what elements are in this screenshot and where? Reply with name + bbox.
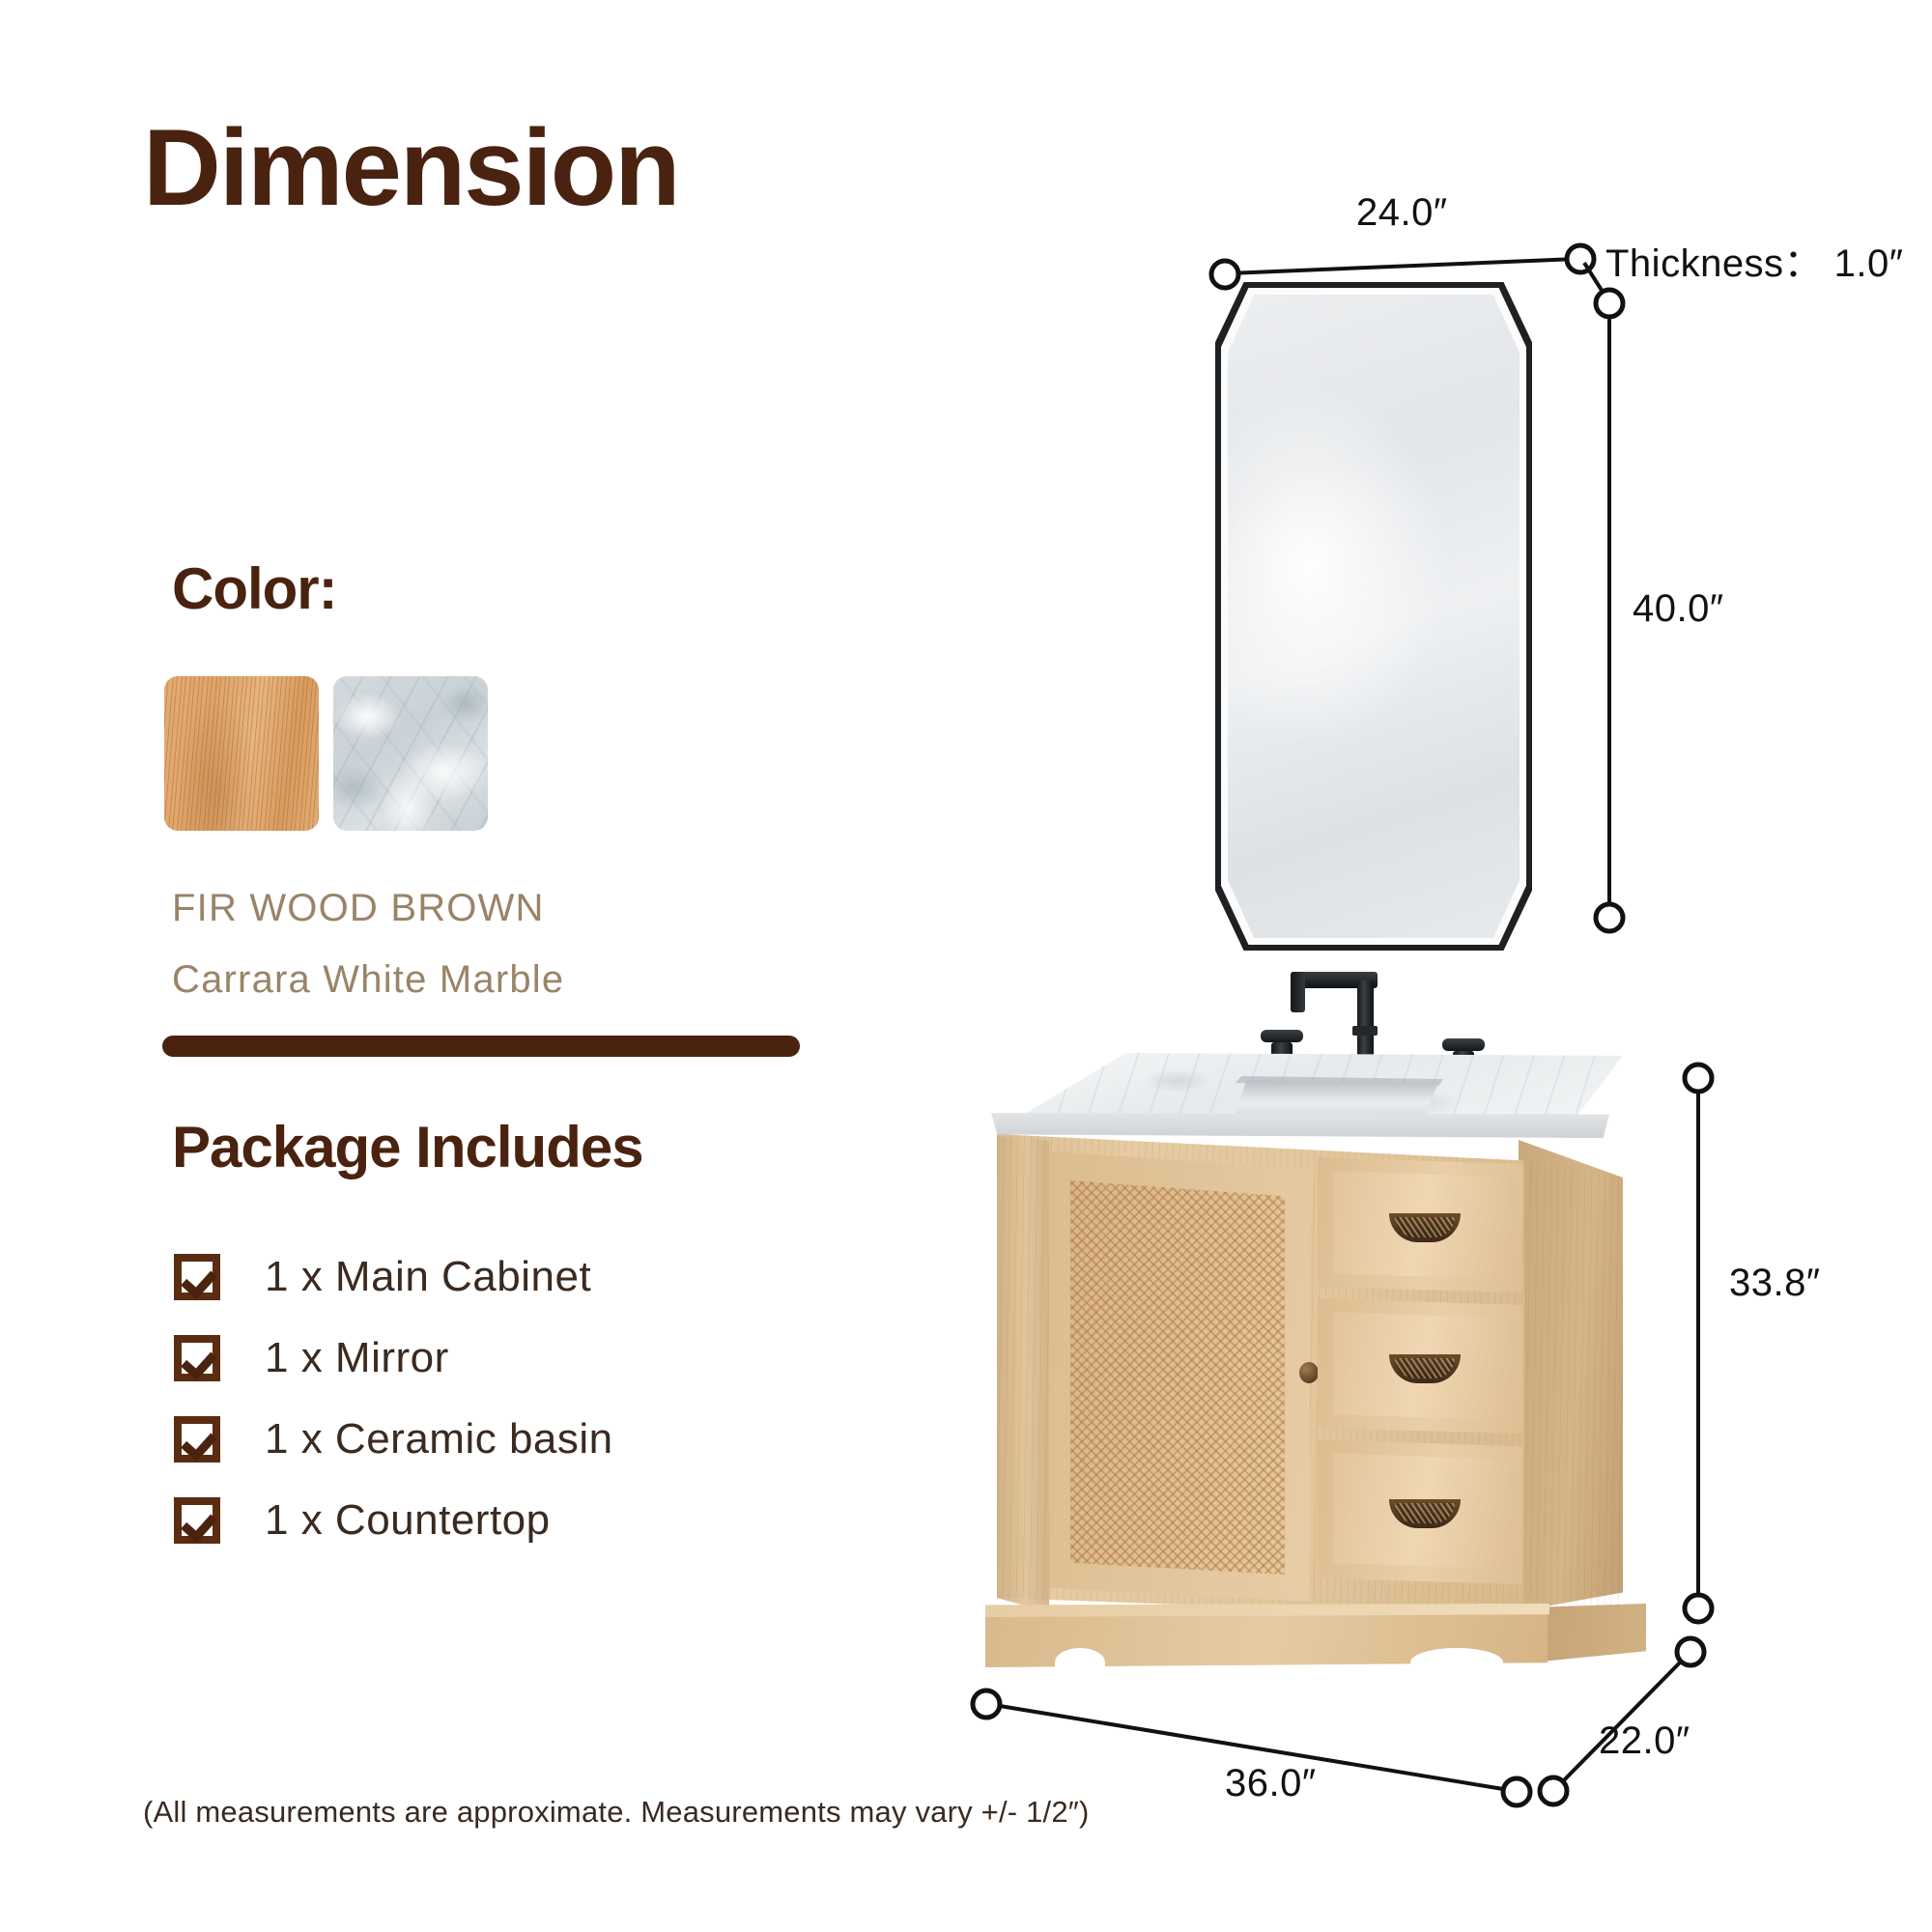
dimension-label-vanity-height: 33.8″	[1729, 1262, 1821, 1305]
faucet-collar	[1352, 1026, 1378, 1036]
faucet-handle-cap-left	[1261, 1030, 1303, 1042]
dimension-label-mirror-width: 24.0″	[1356, 191, 1448, 235]
mirror-glass	[1228, 295, 1520, 938]
bathroom-vanity-cabinet	[985, 1034, 1681, 1719]
door-knob[interactable]	[1299, 1362, 1319, 1383]
cane-rattan-panel	[1070, 1180, 1285, 1575]
base-side	[1542, 1604, 1646, 1662]
base-foot-notch-left	[1055, 1648, 1105, 1677]
dimension-label-mirror-height: 40.0″	[1633, 587, 1724, 631]
product-illustration: 24.0″ Thickness： 1.0″ 40.0″ 33.8″ 36.0″ …	[0, 0, 1932, 1932]
faucet-spout-drop	[1291, 972, 1305, 1012]
dimension-label-mirror-thickness: Thickness： 1.0″	[1605, 232, 1903, 288]
dimension-label-vanity-depth: 22.0″	[1599, 1719, 1690, 1763]
octagonal-mirror	[1215, 282, 1532, 951]
countertop-front-edge	[991, 1113, 1609, 1138]
dimension-label-vanity-width: 36.0″	[1225, 1762, 1317, 1805]
faucet-handle-cap-right	[1442, 1038, 1485, 1051]
base-foot-notch-right	[1410, 1648, 1503, 1677]
